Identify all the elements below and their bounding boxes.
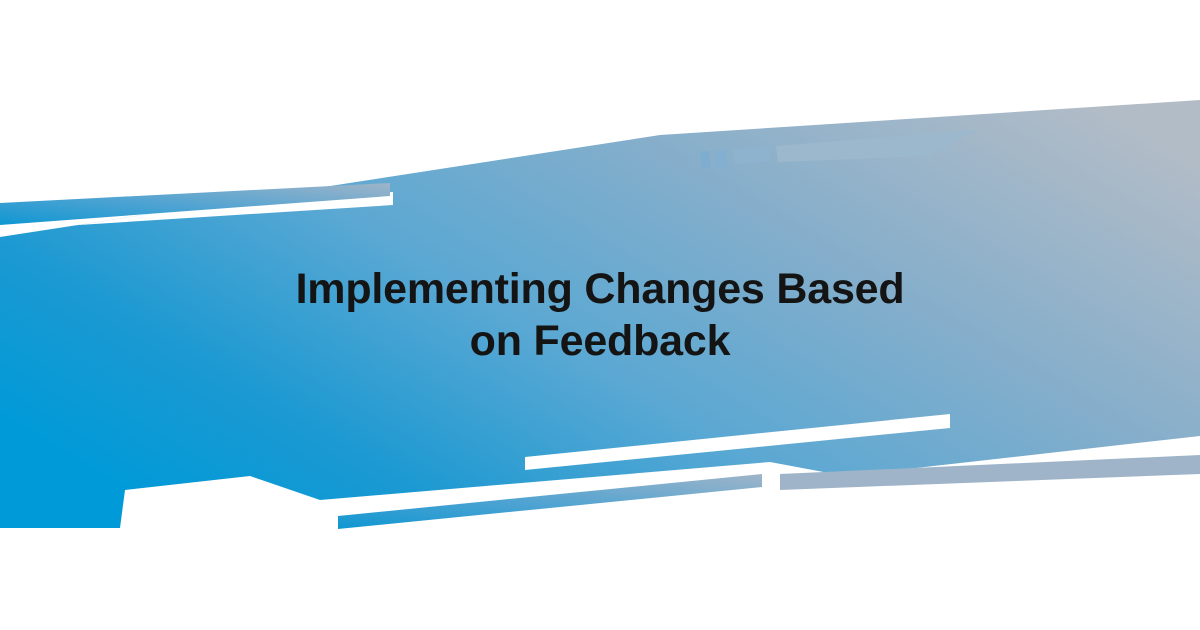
dash-2-icon (715, 150, 728, 167)
decorative-background-art (0, 0, 1200, 630)
title-banner: Implementing Changes Based on Feedback (0, 0, 1200, 630)
